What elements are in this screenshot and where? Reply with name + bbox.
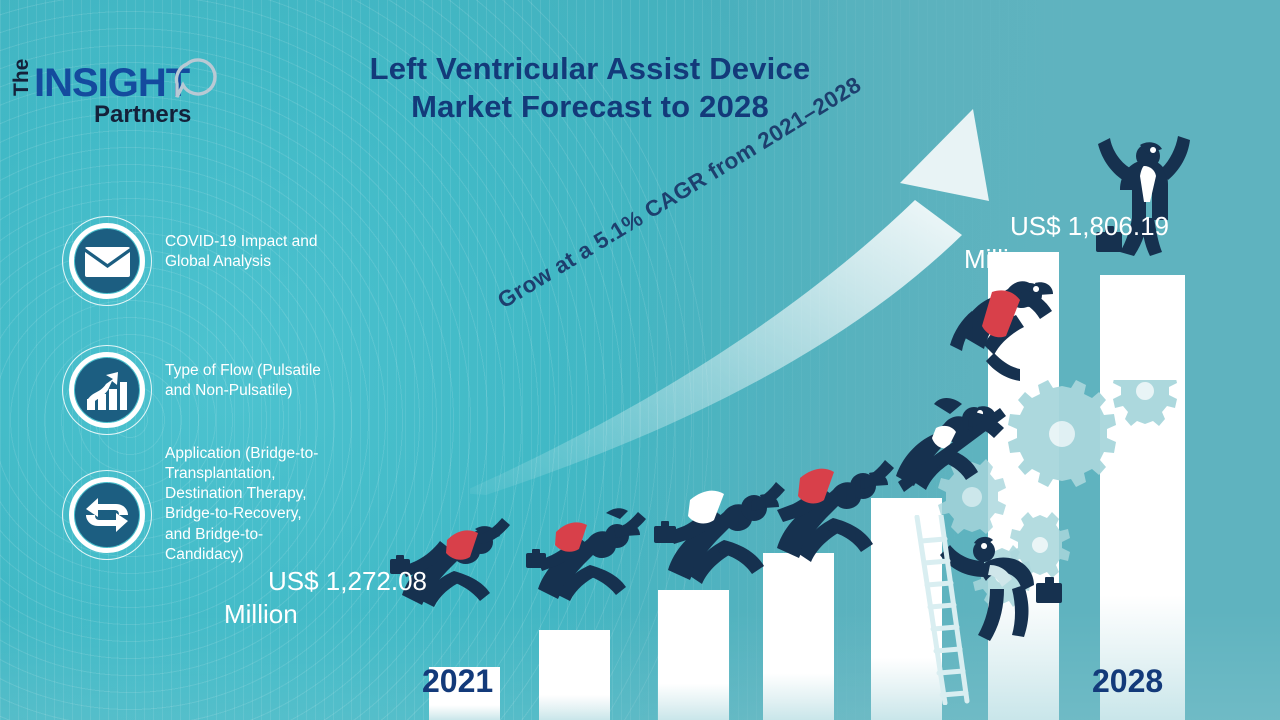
bar-2023 bbox=[658, 590, 729, 720]
feature-app-line3: Destination Therapy, bbox=[165, 484, 318, 504]
value-label-end: US$ 1,806.19 Million bbox=[1010, 210, 1210, 276]
brand-logo[interactable]: The INSIGHT Partners bbox=[6, 36, 221, 126]
feature-item-covid-impact[interactable]: COVID-19 Impact and Global Analysis bbox=[62, 216, 317, 306]
feature-covid-line1: COVID-19 Impact and bbox=[165, 232, 317, 252]
feature-app-line6: Candidacy) bbox=[165, 545, 318, 565]
value-start-unit: Million bbox=[224, 598, 518, 631]
value-label-start: US$ 1,272.08 Million bbox=[268, 565, 518, 631]
background-bottom-fade bbox=[0, 610, 1280, 720]
bar-2022 bbox=[539, 630, 610, 720]
infographic-canvas: The INSIGHT Partners The INSIGHT Partner… bbox=[0, 0, 1280, 720]
year-label-end: 2028 bbox=[1092, 663, 1163, 700]
growth-bars-glyph bbox=[84, 369, 130, 411]
feature-flow-line1: Type of Flow (Pulsatile bbox=[165, 361, 321, 381]
value-end-unit: Million bbox=[964, 243, 1210, 276]
ladder-icon bbox=[905, 515, 975, 705]
feature-item-application[interactable]: Application (Bridge-to- Transplantation,… bbox=[62, 442, 318, 565]
feature-app-line1: Application (Bridge-to- bbox=[165, 444, 318, 464]
feature-app-line4: Bridge-to-Recovery, bbox=[165, 504, 318, 524]
sync-arrows-glyph bbox=[83, 493, 131, 537]
value-end-amount: US$ 1,806.19 bbox=[1010, 211, 1169, 241]
bar-2024 bbox=[763, 553, 834, 720]
feature-label-covid: COVID-19 Impact and Global Analysis bbox=[165, 232, 317, 272]
logo-partners-text: Partners bbox=[94, 101, 191, 126]
feature-app-line5: and Bridge-to- bbox=[165, 525, 318, 545]
feature-item-type-of-flow[interactable]: Type of Flow (Pulsatile and Non-Pulsatil… bbox=[62, 345, 321, 435]
sync-arrows-icon bbox=[62, 470, 152, 560]
feature-label-flow: Type of Flow (Pulsatile and Non-Pulsatil… bbox=[165, 361, 321, 401]
feature-label-application: Application (Bridge-to- Transplantation,… bbox=[165, 444, 318, 565]
value-start-amount: US$ 1,272.08 bbox=[268, 566, 427, 596]
feature-app-line2: Transplantation, bbox=[165, 464, 318, 484]
growth-bars-icon bbox=[62, 345, 152, 435]
envelope-glyph bbox=[85, 247, 130, 277]
title-line-1: Left Ventricular Assist Device bbox=[250, 50, 930, 88]
envelope-icon bbox=[62, 216, 152, 306]
bar-2028 bbox=[1100, 275, 1185, 720]
feature-covid-line2: Global Analysis bbox=[165, 252, 317, 272]
cagr-growth-arrow bbox=[470, 105, 1070, 495]
feature-flow-line2: and Non-Pulsatile) bbox=[165, 381, 321, 401]
year-label-start: 2021 bbox=[422, 663, 493, 700]
logo-insight-text: INSIGHT bbox=[34, 61, 190, 105]
logo-the-text: The bbox=[10, 59, 33, 96]
arrow-head-icon bbox=[900, 109, 989, 201]
